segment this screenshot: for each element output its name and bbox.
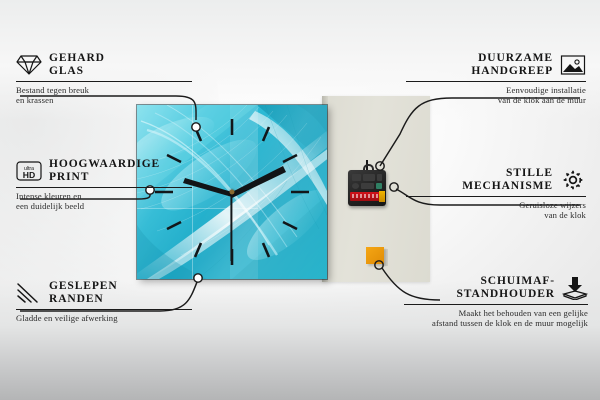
callout-duurzame-handgreep: DUURZAME HANDGREEP Eenvoudige installati… (406, 52, 586, 106)
callout-rule (16, 309, 192, 310)
callout-rule (406, 81, 586, 82)
picture-frame-icon (560, 54, 586, 76)
callout-rule (16, 187, 192, 188)
callout-desc-line1: Bestand tegen breuk (16, 85, 192, 95)
callout-title-line1: SCHUIMAF- (456, 275, 555, 288)
mechanism-led (376, 183, 382, 189)
foam-spacer (366, 247, 384, 264)
callout-desc-line2: een duidelijk beeld (16, 201, 192, 211)
callout-desc-line2: van de klok aan de muur (406, 95, 586, 105)
battery-positive-cap (379, 191, 385, 202)
callout-hoogwaardige-print: ultra HD HOOGWAARDIGE PRINT Intense kleu… (16, 158, 192, 212)
callout-gehard-glas: GEHARD GLAS Bestand tegen breuk en krass… (16, 52, 192, 106)
callout-desc-line1: Gladde en veilige afwerking (16, 313, 192, 323)
callout-desc-line1: Maakt het behouden van een gelijke (404, 308, 588, 318)
callout-desc-line2: en krassen (16, 95, 192, 105)
callout-title-line2: PRINT (49, 171, 160, 184)
minute-hand (232, 166, 286, 198)
clock-hand-pivot (230, 190, 235, 195)
mechanism-detail (352, 174, 361, 181)
callout-title-line1: STILLE (462, 167, 553, 180)
diamond-icon (16, 54, 42, 76)
ultra-hd-icon-text-bottom: HD (23, 170, 35, 180)
callout-title-line2: HANDGREEP (471, 65, 553, 78)
bevelled-edge-icon (16, 282, 42, 304)
infographic-canvas: GEHARD GLAS Bestand tegen breuk en krass… (0, 0, 600, 400)
callout-title-line2: STANDHOUDER (456, 288, 555, 301)
mechanism-dial (352, 183, 359, 189)
foam-spacer-side (384, 249, 388, 266)
callout-desc-line2: van de klok (406, 210, 586, 220)
callout-desc-line1: Intense kleuren en (16, 191, 192, 201)
callout-title-line2: GLAS (49, 65, 105, 78)
callout-desc-line2: afstand tussen de klok en de muur mogeli… (404, 318, 588, 328)
second-hand (230, 191, 232, 261)
callout-title-line2: RANDEN (49, 293, 118, 306)
callout-geslepen-randen: GESLEPEN RANDEN Gladde en veilige afwerk… (16, 280, 192, 323)
callout-title-line1: GEHARD (49, 52, 105, 65)
callout-schuimafstandhouder: SCHUIMAF- STANDHOUDER Maakt het behouden… (404, 275, 588, 329)
callout-title-line1: DUURZAME (471, 52, 553, 65)
callout-desc-line1: Eenvoudige installatie (406, 85, 586, 95)
mechanism-detail (361, 183, 374, 189)
callout-title-line1: GESLEPEN (49, 280, 118, 293)
callout-rule (404, 304, 588, 305)
callout-rule (406, 196, 586, 197)
callout-stille-mechanisme: STILLE MECHANISME Geruisloze wijzers van… (406, 167, 586, 221)
callout-title-line2: MECHANISME (462, 180, 553, 193)
battery-label-stripes (352, 194, 378, 198)
gear-icon (560, 169, 586, 191)
callout-rule (16, 81, 192, 82)
mechanism-detail (377, 174, 382, 181)
arrow-down-pad-icon (562, 276, 588, 300)
callout-desc-line1: Geruisloze wijzers (406, 200, 586, 210)
ultra-hd-icon: ultra HD (16, 160, 42, 182)
callout-title-line1: HOOGWAARDIGE (49, 158, 160, 171)
mechanism-detail (363, 174, 375, 181)
